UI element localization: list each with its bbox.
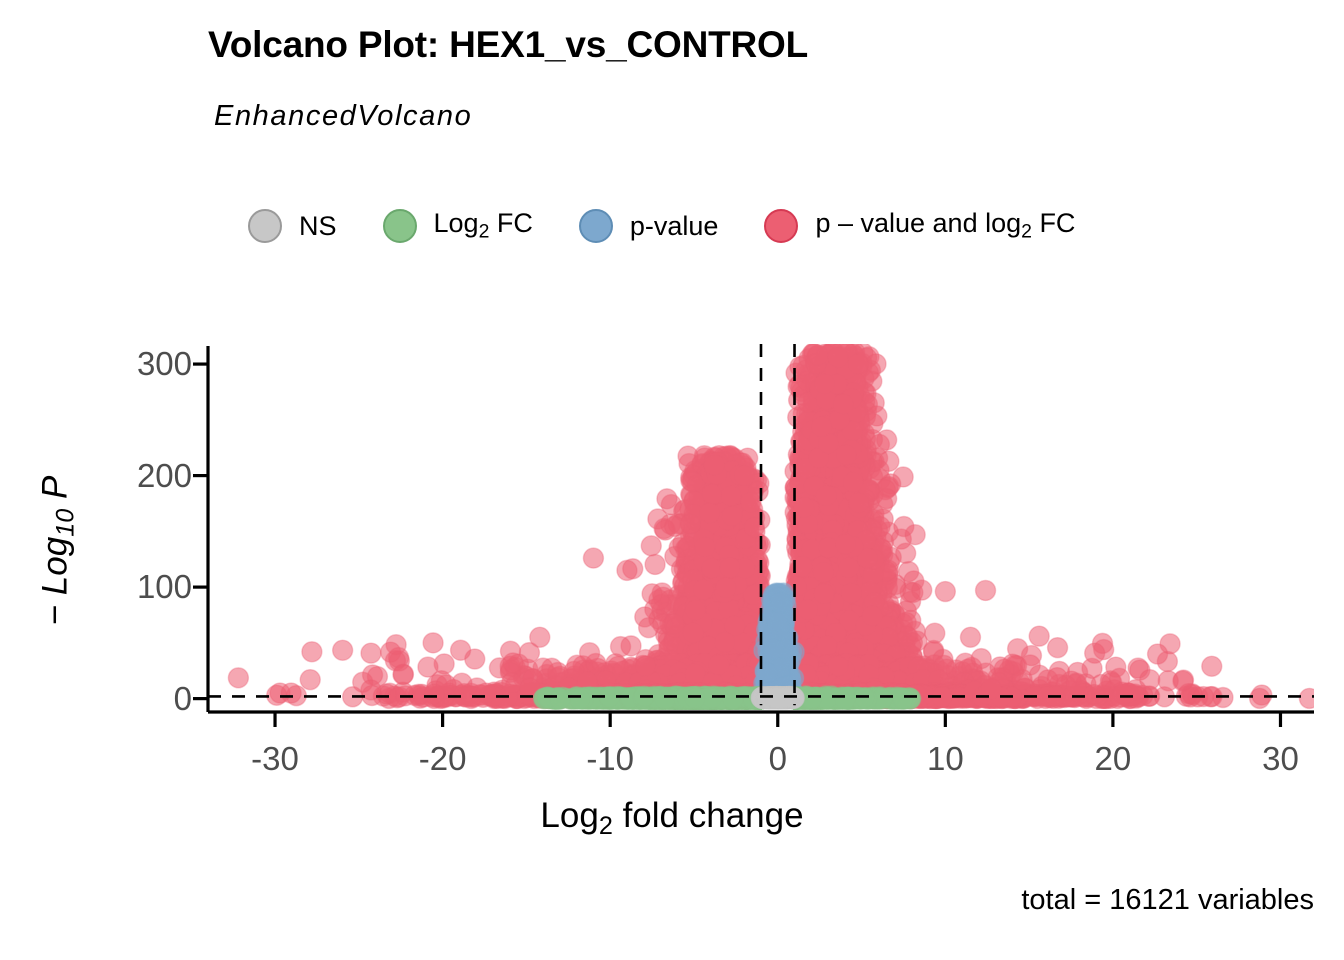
x-tick-label: -20 <box>419 740 467 778</box>
volcano-plot-figure: Volcano Plot: HEX1_vs_CONTROL EnhancedVo… <box>0 0 1344 960</box>
x-tick-label: 0 <box>769 740 787 778</box>
x-tick-label: 10 <box>927 740 964 778</box>
y-tick-label: 200 <box>137 457 192 495</box>
caption-total-variables: total = 16121 variables <box>1021 884 1314 917</box>
x-tick-label: -30 <box>251 740 299 778</box>
y-tick-label: 100 <box>137 568 192 606</box>
x-axis-title: Log2 fold change <box>0 796 1344 841</box>
x-tick-label: 20 <box>1095 740 1132 778</box>
y-axis-title: − Log10 P <box>35 371 80 731</box>
y-tick-label: 300 <box>137 345 192 383</box>
x-tick-label: 30 <box>1262 740 1299 778</box>
x-tick-label: -10 <box>586 740 634 778</box>
y-tick-label: 0 <box>174 680 192 718</box>
